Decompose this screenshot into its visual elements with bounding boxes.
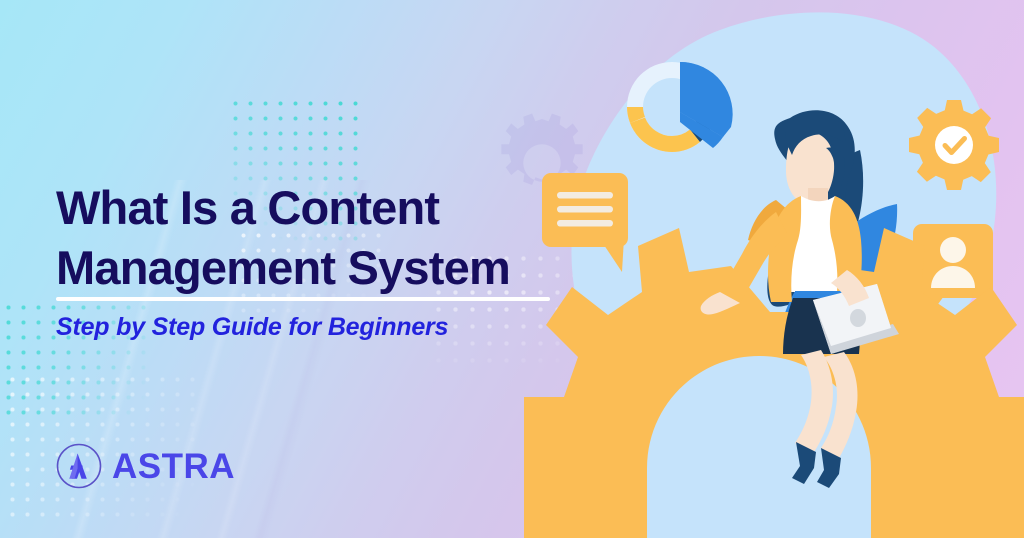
- hero-illustration: [524, 0, 1024, 538]
- headline-line-2: Management System: [56, 238, 510, 298]
- title-divider: [56, 297, 550, 301]
- astra-logo-text: ASTRA: [112, 449, 235, 484]
- page-subtitle: Step by Step Guide for Beginners: [56, 310, 448, 344]
- headline-line-1: What Is a Content: [56, 178, 510, 238]
- settings-gear-check-icon: [909, 100, 999, 190]
- astra-logo-mark-icon: [55, 442, 103, 490]
- page-title: What Is a Content Management System: [56, 178, 510, 298]
- astra-logo[interactable]: ASTRA: [55, 442, 235, 490]
- hero-banner: What Is a Content Management System Step…: [0, 0, 1024, 538]
